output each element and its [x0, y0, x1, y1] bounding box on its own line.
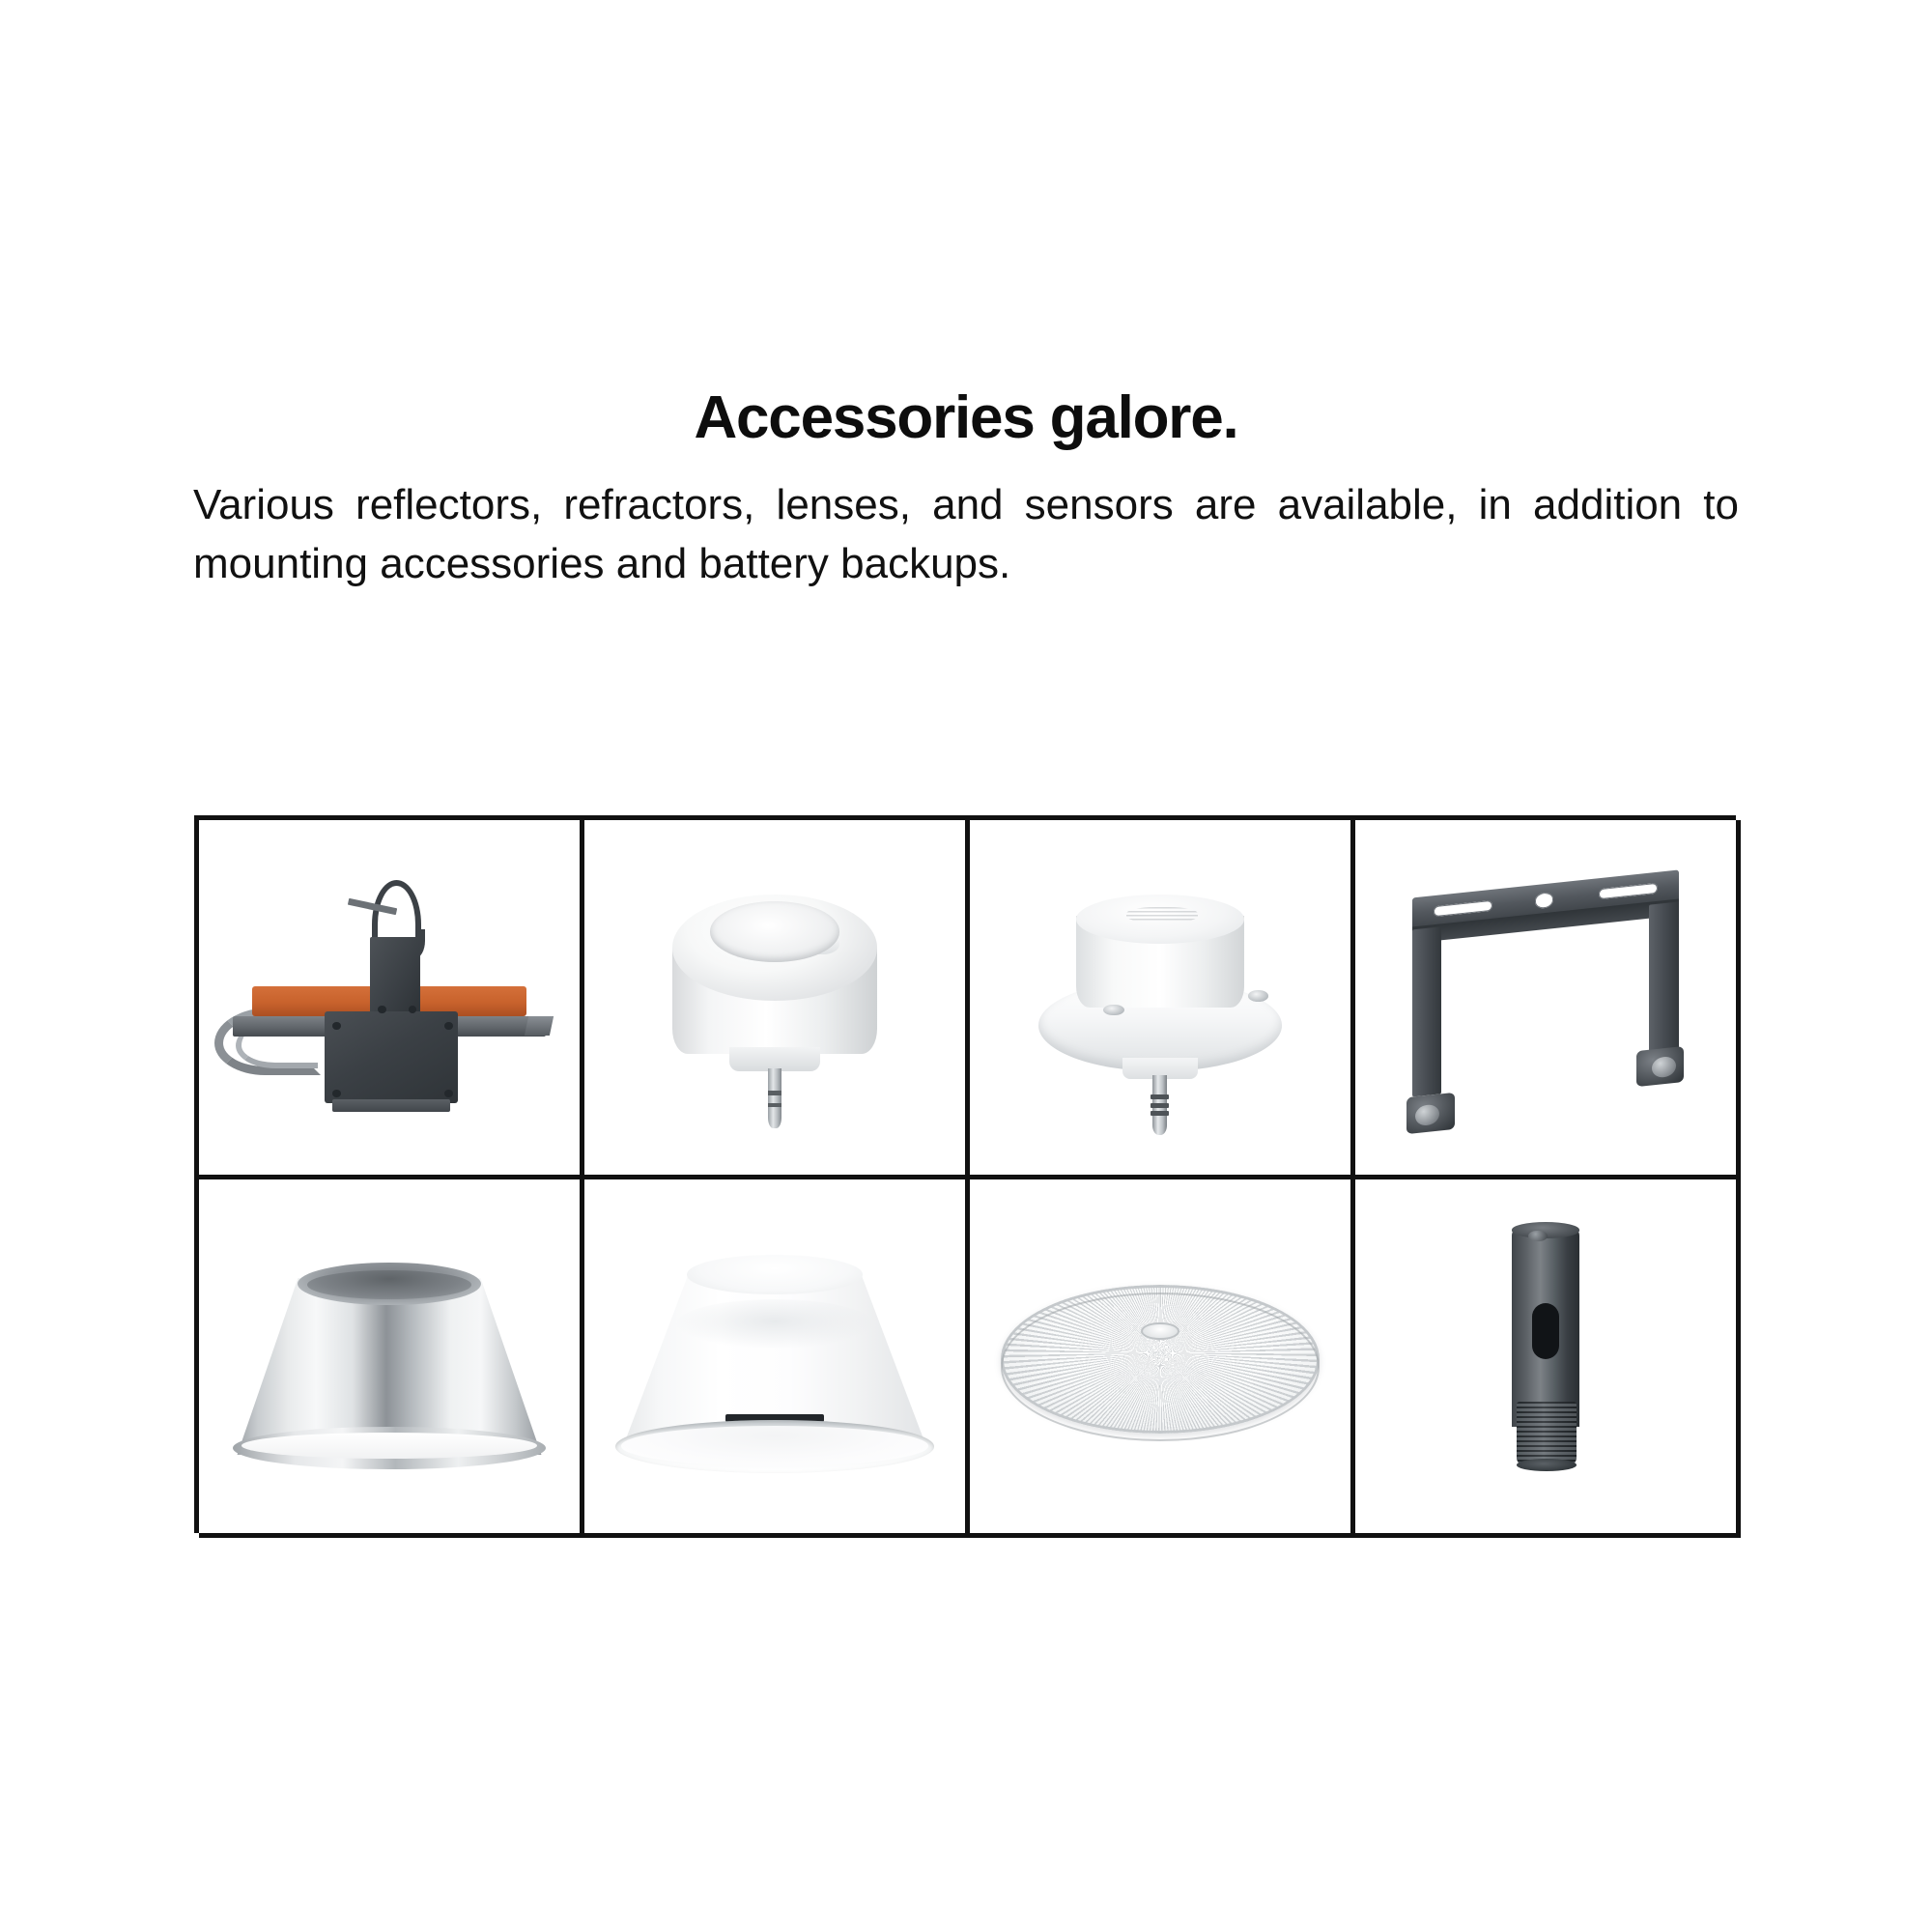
page-description: Various reflectors, refractors, lenses, …: [193, 476, 1739, 593]
grid-cell-yoke-bracket[interactable]: [1355, 820, 1741, 1179]
polycarbonate-reflector-icon: [584, 1179, 965, 1534]
grid-cell-aluminum-reflector[interactable]: [199, 1179, 584, 1539]
accessory-grid: [194, 815, 1736, 1533]
pendant-adapter-icon: [1355, 1179, 1736, 1534]
grid-cell-occupancy-sensor[interactable]: [584, 820, 970, 1179]
text-block: Accessories galore. Various reflectors, …: [193, 386, 1739, 594]
slide-canvas: Accessories galore. Various reflectors, …: [0, 0, 1932, 1932]
grid-cell-photocell-sensor[interactable]: [970, 820, 1355, 1179]
aluminum-reflector-icon: [199, 1179, 580, 1534]
hook-mount-icon: [199, 820, 580, 1175]
grid-cell-hook-mount-bracket[interactable]: [199, 820, 584, 1179]
yoke-bracket-icon: [1355, 820, 1736, 1175]
prismatic-lens-icon: [970, 1179, 1350, 1534]
grid-cell-polycarbonate-reflector[interactable]: [584, 1179, 970, 1539]
page-title: Accessories galore.: [193, 386, 1739, 449]
occupancy-sensor-icon: [584, 820, 965, 1175]
photocell-sensor-icon: [970, 820, 1350, 1175]
grid-cell-prismatic-lens[interactable]: [970, 1179, 1355, 1539]
grid-cell-pendant-adapter[interactable]: [1355, 1179, 1741, 1539]
